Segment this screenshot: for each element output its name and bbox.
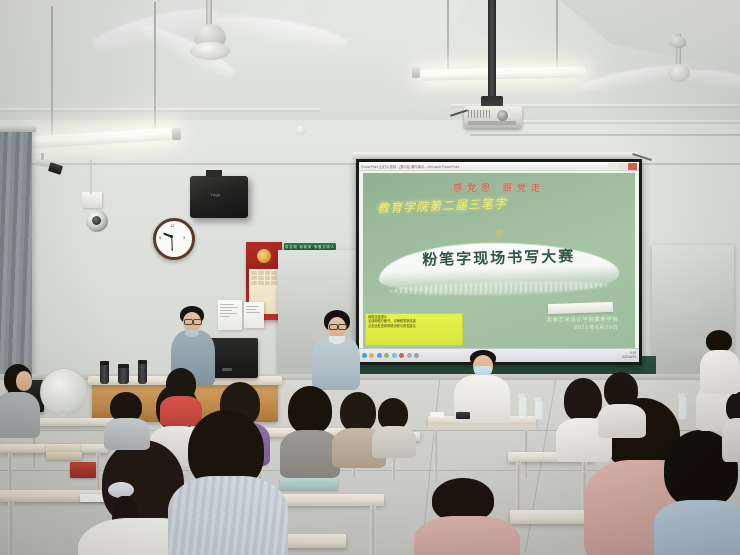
wall-seam-2 — [470, 134, 740, 136]
clock-center — [170, 235, 173, 238]
slide-footer-line-2: 2021年6月29日 — [547, 325, 619, 333]
floor-fan — [40, 368, 88, 416]
slide-footer: 北海艺术设计学院教育学院 2021年6月29日 — [547, 317, 619, 332]
calendar-cell — [265, 276, 271, 280]
projection-screen: PowerPoint 幻灯片放映 - [第2讲] 课件演示 - Microsof… — [356, 159, 642, 365]
fan-motor — [670, 36, 686, 48]
bullet-camera — [36, 158, 66, 180]
hair — [340, 392, 376, 432]
poster-text-line — [246, 309, 256, 310]
glasses — [329, 324, 338, 330]
water-bottle — [534, 400, 543, 420]
camera-mount-wire — [90, 160, 92, 194]
torso — [168, 476, 288, 555]
judge-papers — [430, 412, 444, 417]
hair — [706, 330, 732, 352]
minimize-icon[interactable] — [608, 163, 617, 170]
green-banner-text: 讲文明 树新风 争做文明人 — [285, 244, 335, 249]
start-icon[interactable] — [362, 353, 367, 358]
audience-member — [726, 392, 740, 458]
torso — [654, 500, 740, 555]
thermos-cap — [118, 364, 129, 368]
slide-white-chalk-bar — [548, 302, 614, 314]
slide-footer-line-1: 北海艺术设计学院教育学院 — [547, 317, 619, 325]
standing-attendant — [700, 330, 740, 390]
torso — [700, 350, 740, 394]
monitor-logo — [222, 368, 232, 371]
face — [16, 371, 32, 391]
poster-text-line — [246, 312, 260, 313]
desk-leg — [524, 424, 528, 478]
ceiling-fan-left — [150, 0, 320, 70]
hair — [564, 378, 602, 422]
camera-bracket — [41, 153, 44, 160]
calendar-cell — [258, 276, 264, 280]
dome-camera-eye — [92, 216, 101, 225]
torso — [414, 516, 520, 555]
camera-lens-icon — [48, 162, 63, 175]
maximize-icon[interactable] — [618, 163, 627, 170]
poster-schedule-1 — [218, 300, 242, 330]
calendar-cell — [258, 281, 264, 285]
light-hanger-wire — [447, 0, 449, 70]
window-frame — [0, 126, 36, 132]
clock-numeral: 6 — [171, 247, 173, 252]
audience-member — [280, 386, 338, 472]
slide-red-banner: 感党恩 跟党走 — [363, 181, 635, 194]
calendar-cell — [271, 271, 277, 275]
audience-member — [418, 478, 514, 555]
stacked-books — [46, 452, 82, 460]
close-icon[interactable] — [628, 163, 637, 170]
green-banner-sign: 讲文明 树新风 争做文明人 — [284, 243, 336, 250]
collar — [329, 336, 345, 344]
calendar-cell — [265, 281, 271, 285]
calendar-grid — [249, 269, 279, 287]
calendar-cell — [258, 271, 264, 275]
powerpoint-slide: 感党恩 跟党走 教育学院第二届三笔字 粉笔字现场书写大赛 北海艺术设计学院教育学… — [363, 173, 635, 348]
calendar-cell — [265, 271, 271, 275]
projector-pole — [488, 0, 496, 98]
notebook — [280, 478, 338, 490]
powerpoint-icon[interactable] — [399, 353, 404, 358]
hair — [604, 372, 638, 408]
desk-leg — [516, 461, 521, 517]
light-hanger-wire — [154, 2, 156, 132]
media-icon[interactable] — [384, 353, 389, 358]
calendar-cell — [251, 276, 257, 280]
audience-member — [0, 364, 40, 436]
seated-judge — [452, 350, 512, 420]
projector-lens — [497, 110, 508, 121]
audience-member — [374, 398, 414, 454]
audience-member-foreground — [172, 410, 282, 555]
poster-text-line — [220, 316, 230, 317]
tube-cap — [412, 67, 420, 78]
calendar-cell — [271, 276, 277, 280]
speaker-brand-label: Yagu — [210, 192, 221, 197]
torso — [722, 418, 740, 462]
desk-leg — [370, 505, 376, 555]
fan-rod — [206, 0, 212, 26]
slide-seal-mark — [495, 229, 503, 237]
light-hanger-wire — [556, 0, 558, 70]
dome-camera — [86, 210, 108, 232]
wall-conduit-1 — [0, 108, 320, 112]
fan-light-dome — [668, 64, 690, 82]
calendar-cell — [251, 281, 257, 285]
clock-numeral: 9 — [159, 235, 161, 240]
poster-text-line — [246, 306, 259, 307]
browser-icon[interactable] — [377, 353, 382, 358]
poster-text-line — [220, 310, 232, 311]
clock-numeral: 12 — [170, 223, 174, 228]
audience-member — [598, 372, 644, 434]
glasses — [184, 319, 193, 325]
ceiling-sensor — [296, 125, 306, 135]
thermos-cap — [100, 361, 109, 365]
network-icon[interactable] — [414, 353, 419, 358]
wall-clock: 12 3 6 9 — [153, 218, 195, 260]
tube-cap — [172, 128, 182, 141]
torso — [312, 336, 360, 390]
party-emblem-icon — [257, 249, 271, 263]
clock-numeral: 3 — [183, 235, 185, 240]
poster-text-line — [220, 313, 237, 314]
toast-line-3: 点击此处查看网络诊断与修复建议 — [368, 324, 460, 329]
judge-phone — [456, 412, 470, 419]
poster-text-line — [220, 307, 238, 308]
classroom-photo: Yagu 12 3 6 9 — [0, 0, 740, 555]
bottle-cap — [534, 397, 541, 401]
thermos-cap — [138, 360, 147, 364]
torso — [0, 392, 40, 438]
calendar-cell — [251, 271, 257, 275]
taskbar-date: 2021/6/29 — [622, 355, 636, 359]
poster-text-line — [220, 304, 234, 305]
powerpoint-titlebar-text: PowerPoint 幻灯片放映 - [第2讲] 课件演示 - Microsof… — [361, 164, 459, 169]
fan-light-dome — [190, 42, 230, 60]
bottle-cap — [518, 393, 525, 397]
audience-member — [104, 392, 148, 446]
chat-icon[interactable] — [392, 353, 397, 358]
projector-vent — [468, 110, 490, 118]
collar — [185, 330, 199, 337]
taskbar-clock[interactable]: 9:45 2021/6/29 — [622, 352, 636, 360]
bottle-cap — [678, 393, 685, 397]
glasses — [193, 319, 202, 325]
glasses — [338, 324, 347, 330]
powerpoint-titlebar: PowerPoint 幻灯片放映 - [第2讲] 课件演示 - Microsof… — [359, 162, 639, 171]
water-bottle — [518, 396, 527, 420]
speaker-bracket — [206, 170, 222, 177]
presenter-center — [310, 310, 362, 386]
hair — [288, 386, 332, 434]
thermos-bottle — [100, 364, 109, 384]
thermos-bottle — [138, 363, 147, 384]
desk-leg — [434, 424, 438, 482]
light-hanger-wire — [51, 6, 53, 138]
camera-power-box — [82, 192, 102, 208]
thermos-bottle — [118, 367, 129, 384]
desk-leg — [8, 501, 14, 555]
calendar-cell — [271, 281, 277, 285]
torso — [104, 418, 150, 450]
poster-schedule-2 — [244, 302, 264, 328]
ceiling-fan-right — [620, 28, 740, 98]
projector-label — [468, 121, 516, 125]
projected-desktop: PowerPoint 幻灯片放映 - [第2讲] 课件演示 - Microsof… — [359, 162, 639, 362]
torso — [280, 430, 340, 478]
judge-desk-apron — [428, 424, 536, 430]
torso — [598, 404, 646, 438]
torso — [372, 426, 416, 458]
chalk-smudge — [662, 297, 706, 311]
wall-speaker: Yagu — [190, 176, 248, 218]
network-toast-notification[interactable]: 网络连接提示 无线网络已断开，请稍候重新连接 点击此处查看网络诊断与修复建议 — [365, 313, 463, 346]
projector-body — [464, 106, 522, 128]
folder-icon[interactable] — [369, 353, 374, 358]
chalk-smudge — [290, 282, 330, 294]
settings-icon[interactable] — [407, 353, 412, 358]
slide-handwritten-subtitle: 教育学院第二届三笔字 — [377, 195, 508, 217]
